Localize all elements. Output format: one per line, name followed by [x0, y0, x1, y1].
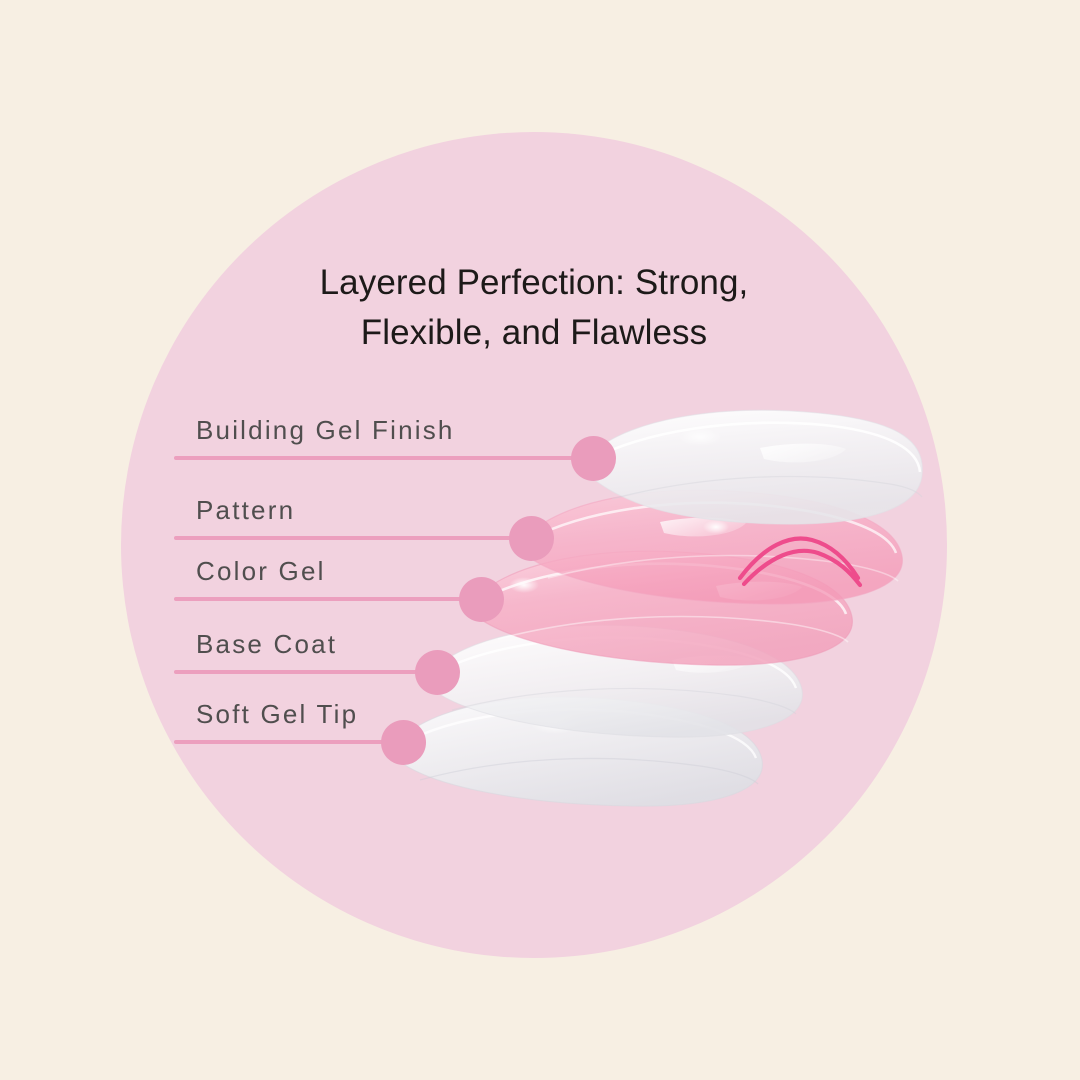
callout-label-color-gel: Color Gel [196, 556, 326, 587]
callout-label-base-coat: Base Coat [196, 629, 337, 660]
infographic-canvas: Layered Perfection: Strong, Flexible, an… [0, 0, 1080, 1080]
callout-label-building-gel-finish: Building Gel Finish [196, 415, 455, 446]
leader-line-base-coat [174, 670, 437, 674]
callout-dot-pattern[interactable] [509, 516, 554, 561]
callout-dot-soft-gel-tip[interactable] [381, 720, 426, 765]
callout-label-pattern: Pattern [196, 495, 295, 526]
callout-list: Building Gel Finish Pattern Color Gel Ba… [0, 0, 1080, 1080]
callout-dot-color-gel[interactable] [459, 577, 504, 622]
leader-line-pattern [174, 536, 531, 540]
leader-line-soft-gel-tip [174, 740, 403, 744]
callout-dot-base-coat[interactable] [415, 650, 460, 695]
leader-line-color-gel [174, 597, 481, 601]
leader-line-building-gel-finish [174, 456, 593, 460]
callout-dot-building-gel-finish[interactable] [571, 436, 616, 481]
callout-label-soft-gel-tip: Soft Gel Tip [196, 699, 358, 730]
